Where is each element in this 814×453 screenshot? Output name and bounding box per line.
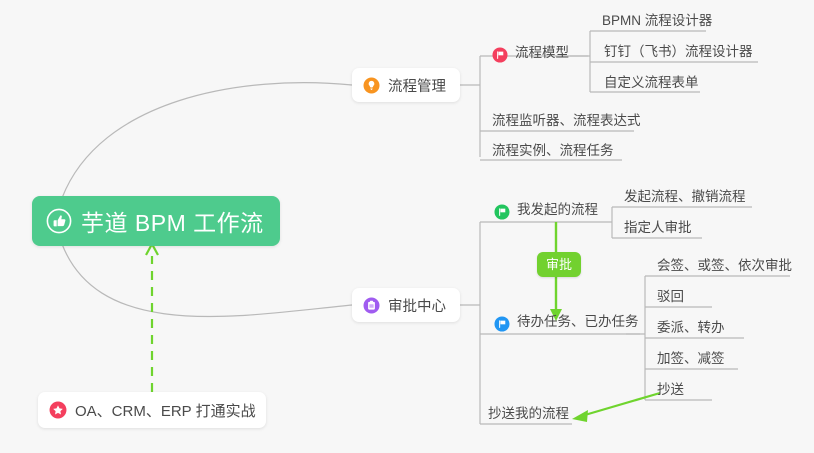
leaf-reject[interactable]: 驳回 (657, 290, 684, 309)
connector-root-to-approval-center (62, 244, 352, 317)
flag-red-icon (492, 47, 508, 63)
leaf-flow-listener-label: 流程监听器、流程表达式 (492, 114, 641, 133)
leaf-start-cancel-flow[interactable]: 发起流程、撤销流程 (624, 190, 746, 209)
annotation-chip-approval: 审批 (537, 252, 581, 277)
leaf-cc[interactable]: 抄送 (657, 383, 684, 402)
node-flow-model-label: 流程模型 (515, 46, 569, 65)
node-flow-management-label: 流程管理 (388, 75, 446, 96)
node-my-started-flows[interactable]: 我发起的流程 (494, 203, 598, 222)
flag-blue-icon (494, 316, 510, 332)
leaf-dingtalk-designer-label: 钉钉（飞书）流程设计器 (604, 45, 753, 64)
star-icon (49, 401, 67, 419)
leaf-assignee-approval-label: 指定人审批 (624, 221, 692, 240)
leaf-flow-listener[interactable]: 流程监听器、流程表达式 (492, 114, 641, 133)
node-integration-note-label: OA、CRM、ERP 打通实战 (75, 400, 256, 421)
leaf-cc-label: 抄送 (657, 383, 684, 402)
leaf-reject-label: 驳回 (657, 290, 684, 309)
node-approval-center[interactable]: 审批中心 (352, 288, 460, 322)
leaf-delegate-transfer[interactable]: 委派、转办 (657, 321, 725, 340)
leaf-countersign-label: 会签、或签、依次审批 (657, 259, 792, 278)
leaf-add-remove-sign[interactable]: 加签、减签 (657, 352, 725, 371)
leaf-assignee-approval[interactable]: 指定人审批 (624, 221, 692, 240)
node-approval-center-label: 审批中心 (388, 295, 446, 316)
leaf-flow-instance-label: 流程实例、流程任务 (492, 144, 614, 163)
root-label: 芋道 BPM 工作流 (81, 204, 264, 238)
arrow-cc-head (572, 410, 588, 422)
leaf-countersign[interactable]: 会签、或签、依次审批 (657, 259, 792, 278)
lightbulb-icon (363, 77, 380, 94)
flag-green-icon (494, 204, 510, 220)
leaf-custom-form-label: 自定义流程表单 (604, 76, 699, 95)
leaf-bpmn-designer[interactable]: BPMN 流程设计器 (602, 14, 712, 33)
node-todo-done-tasks[interactable]: 待办任务、已办任务 (494, 315, 639, 334)
clipboard-icon (363, 297, 380, 314)
node-integration-note[interactable]: OA、CRM、ERP 打通实战 (38, 392, 266, 428)
annotation-chip-approval-label: 审批 (546, 257, 572, 272)
node-flow-management[interactable]: 流程管理 (352, 68, 460, 102)
leaf-add-remove-sign-label: 加签、减签 (657, 352, 725, 371)
leaf-bpmn-designer-label: BPMN 流程设计器 (602, 14, 712, 33)
leaf-start-cancel-flow-label: 发起流程、撤销流程 (624, 190, 746, 209)
root-node[interactable]: 芋道 BPM 工作流 (32, 196, 280, 246)
node-flow-model[interactable]: 流程模型 (492, 46, 569, 65)
connector-root-to-flow-management (62, 83, 352, 198)
node-todo-done-tasks-label: 待办任务、已办任务 (517, 315, 639, 334)
leaf-flow-instance[interactable]: 流程实例、流程任务 (492, 144, 614, 163)
leaf-dingtalk-designer[interactable]: 钉钉（飞书）流程设计器 (604, 45, 753, 64)
leaf-delegate-transfer-label: 委派、转办 (657, 321, 725, 340)
node-cc-my-flows-label: 抄送我的流程 (488, 407, 569, 426)
thumbs-up-icon (46, 208, 72, 234)
node-cc-my-flows[interactable]: 抄送我的流程 (488, 407, 569, 426)
leaf-custom-form[interactable]: 自定义流程表单 (604, 76, 699, 95)
arrow-cc-line (578, 393, 660, 417)
mindmap-canvas: 芋道 BPM 工作流 流程管理 流程模型 BPMN 流程设计器 钉钉（飞书）流程… (0, 0, 814, 453)
node-my-started-flows-label: 我发起的流程 (517, 203, 598, 222)
